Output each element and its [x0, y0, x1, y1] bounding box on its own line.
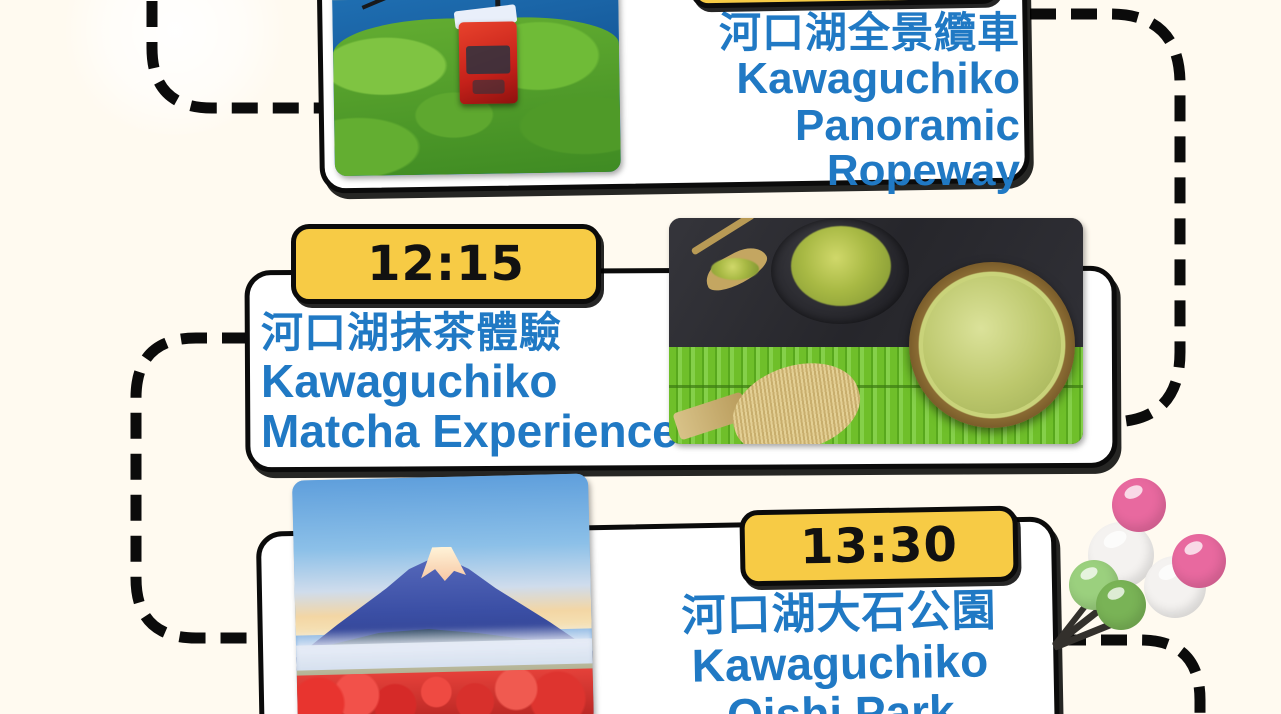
card-ropeway-title: 河口湖全景纜車 Kawaguchiko Panoramic Ropeway — [610, 12, 1020, 193]
background-glow — [60, 0, 290, 135]
ropeway-cable-car — [459, 21, 518, 104]
card-matcha-title-en-2: Matcha Experience — [261, 408, 691, 455]
fuji-photo — [292, 473, 594, 714]
card-matcha-title-zh: 河口湖抹茶體驗 — [261, 312, 691, 355]
matcha-whisk — [669, 350, 909, 444]
itinerary-poster: 河口湖全景纜車 Kawaguchiko Panoramic Ropeway 12… — [0, 0, 1281, 714]
matcha-photo — [669, 218, 1083, 444]
card-matcha-title: 河口湖抹茶體驗 Kawaguchiko Matcha Experience — [261, 312, 691, 455]
dango-green-2 — [1096, 580, 1146, 630]
matcha-bowl — [909, 262, 1075, 428]
ropeway-photo — [331, 0, 621, 176]
card-ropeway-title-en-2: Panoramic Ropeway — [610, 104, 1020, 194]
card-matcha-title-en-1: Kawaguchiko — [261, 358, 691, 405]
card-ropeway-title-en-1: Kawaguchiko — [610, 57, 1020, 102]
card-oishi-time-badge[interactable]: 13:30 — [739, 506, 1018, 587]
dango-pink-2 — [1172, 534, 1226, 588]
card-oishi-title-en-1: Kawaguchiko — [640, 636, 1041, 690]
dango-decoration-group — [1040, 460, 1281, 714]
card-matcha-time-badge[interactable]: 12:15 — [291, 224, 601, 304]
card-oishi-title-zh: 河口湖大石公園 — [639, 589, 1040, 641]
card-oishi-title: 河口湖大石公園 Kawaguchiko Oishi Park — [639, 589, 1041, 714]
dango-pink-1 — [1112, 478, 1166, 532]
card-ropeway-title-zh: 河口湖全景纜車 — [610, 12, 1020, 55]
